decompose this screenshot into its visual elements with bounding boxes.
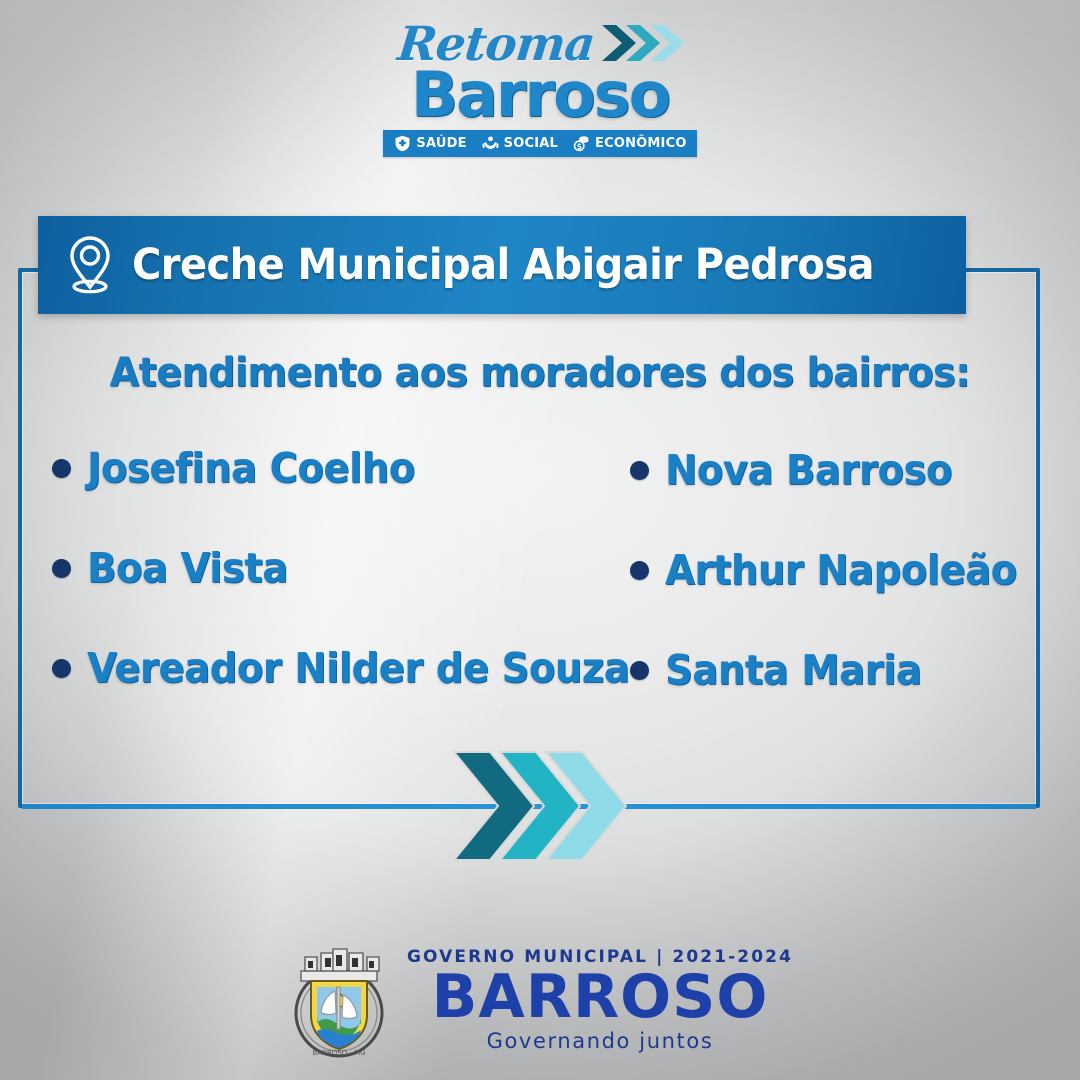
- bullet-icon: [52, 559, 71, 578]
- bullet-icon: [52, 659, 71, 678]
- subtitle-text: Atendimento aos moradores dos bairros:: [110, 350, 970, 396]
- list-item: Nova Barroso: [630, 446, 1030, 494]
- bullet-icon: [52, 459, 71, 478]
- health-shield-icon: [393, 135, 412, 152]
- list-item: Vereador Nilder de Souza: [52, 644, 630, 692]
- bairros-column-right: Nova Barroso Arthur Napoleão Santa Maria: [630, 440, 1030, 710]
- list-item: Arthur Napoleão: [630, 546, 1030, 594]
- tagline: Governando juntos: [487, 1029, 714, 1053]
- bairro-label: Arthur Napoleão: [665, 550, 1017, 591]
- bairro-label: Nova Barroso: [665, 450, 952, 491]
- list-item: Boa Vista: [52, 544, 630, 592]
- chevron-right-icon: [600, 23, 688, 63]
- location-title-banner: Creche Municipal Abigair Pedrosa: [38, 216, 966, 314]
- footer-text-block: GOVERNO MUNICIPAL | 2021-2024 BARROSO Go…: [407, 947, 793, 1053]
- bullet-icon: [630, 561, 649, 580]
- location-pin-icon: [64, 234, 116, 296]
- page-title: Creche Municipal Abigair Pedrosa: [132, 244, 874, 287]
- economy-coins-icon: [572, 135, 591, 152]
- bairros-lists: Josefina Coelho Boa Vista Vereador Nilde…: [40, 440, 1040, 710]
- badge-label-economico: ECONÔMICO: [595, 136, 687, 151]
- list-item: Josefina Coelho: [52, 444, 630, 492]
- subtitle: Atendimento aos moradores dos bairros:: [0, 350, 1080, 396]
- logo-main-word: Barroso: [411, 64, 669, 126]
- footer: BARROSO - MG GOVERNO MUNICIPAL | 2021-20…: [0, 935, 1080, 1063]
- logo-pillars-badge: SAÚDE SOCIAL ECONÔMICO: [383, 130, 696, 157]
- logo-script-word: Retoma: [395, 17, 597, 72]
- list-item: Santa Maria: [630, 646, 1030, 694]
- badge-label-saude: SAÚDE: [416, 136, 466, 151]
- bullet-icon: [630, 661, 649, 680]
- bairros-column-left: Josefina Coelho Boa Vista Vereador Nilde…: [40, 440, 630, 710]
- bairro-label: Vereador Nilder de Souza: [87, 648, 629, 689]
- bairro-label: Josefina Coelho: [87, 448, 415, 489]
- crest-ribbon-text: BARROSO - MG: [312, 1049, 365, 1057]
- city-name: BARROSO: [432, 967, 769, 1027]
- bairro-label: Boa Vista: [87, 548, 288, 589]
- bullet-icon: [630, 461, 649, 480]
- triple-chevron-right-icon: [450, 748, 640, 864]
- retoma-barroso-logo: Retoma Barroso SAÚDE SOCIAL: [0, 18, 1080, 157]
- badge-item-saude: SAÚDE: [393, 135, 466, 152]
- barroso-coat-of-arms-icon: BARROSO - MG: [287, 935, 391, 1063]
- badge-item-economico: ECONÔMICO: [572, 135, 687, 152]
- badge-item-social: SOCIAL: [481, 135, 558, 152]
- bairro-label: Santa Maria: [665, 650, 921, 691]
- social-hands-icon: [481, 135, 500, 152]
- badge-label-social: SOCIAL: [504, 136, 558, 151]
